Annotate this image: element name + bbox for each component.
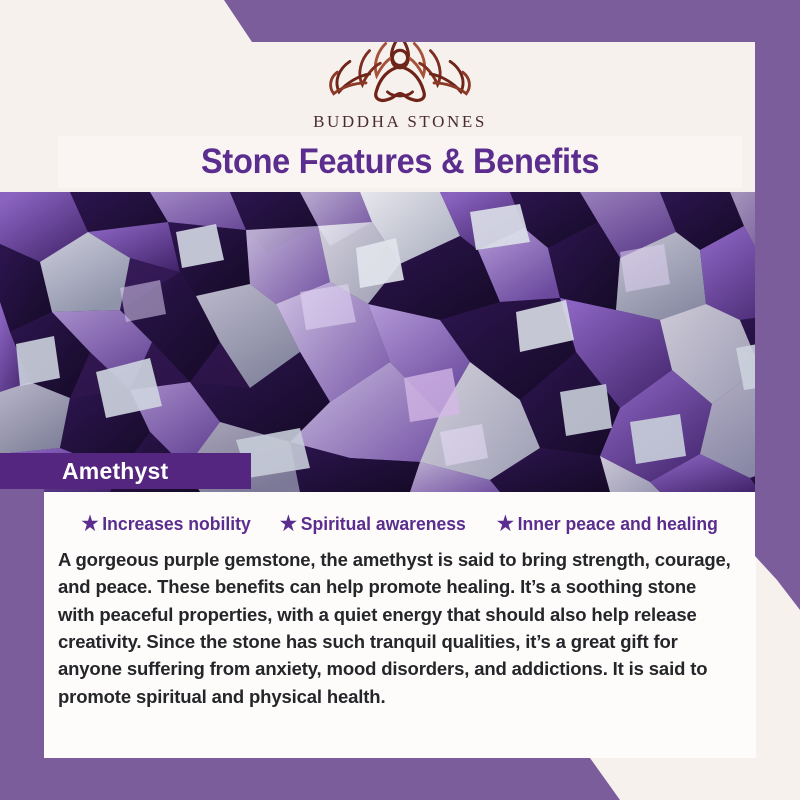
feature-item: ★ Increases nobility <box>81 513 250 535</box>
feature-label: Increases nobility <box>102 513 250 535</box>
brand-name: BUDDHA STONES <box>313 112 487 132</box>
feature-list: ★ Increases nobility ★ Spiritual awarene… <box>44 492 756 535</box>
frame-right-bar <box>755 0 800 610</box>
stone-name-tag: Amethyst <box>0 453 251 489</box>
feature-label: Spiritual awareness <box>301 513 466 535</box>
frame-left-bar <box>0 488 44 800</box>
stone-details-panel: ★ Increases nobility ★ Spiritual awarene… <box>44 492 756 757</box>
amethyst-crystal-cluster-photo <box>0 192 800 492</box>
star-icon: ★ <box>496 514 513 534</box>
section-title: Stone Features & Benefits <box>201 142 599 182</box>
star-icon: ★ <box>81 514 98 534</box>
stone-name-label: Amethyst <box>62 458 168 485</box>
product-info-card: Amethyst BUDDHA STONE <box>0 0 800 800</box>
stone-description: A gorgeous purple gemstone, the amethyst… <box>58 546 732 710</box>
feature-label: Inner peace and healing <box>517 513 717 535</box>
feature-item: ★ Spiritual awareness <box>280 513 466 535</box>
section-title-band: Stone Features & Benefits <box>58 136 742 188</box>
star-icon: ★ <box>280 514 297 534</box>
frame-bottom-bar <box>0 758 800 800</box>
feature-item: ★ Inner peace and healing <box>496 513 717 535</box>
